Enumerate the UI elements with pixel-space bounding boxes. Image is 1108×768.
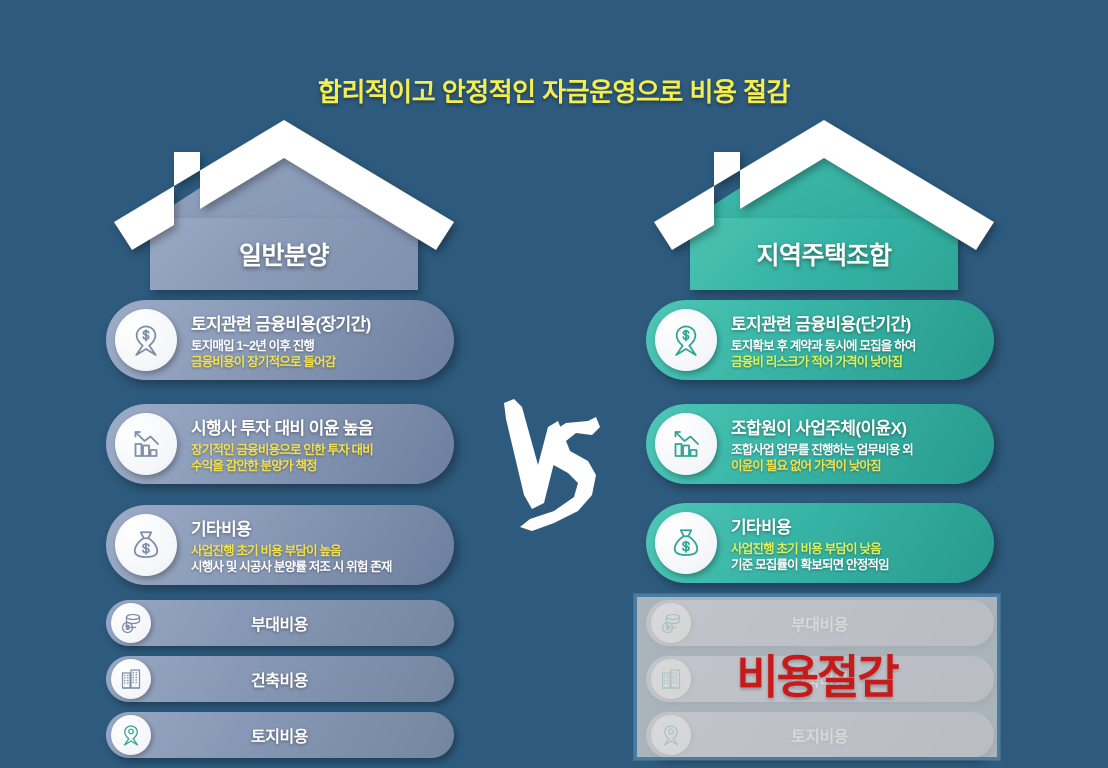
card-subline: 이윤이 필요 없어 가격이 낮아짐 (731, 458, 913, 475)
location-pin-icon (111, 715, 151, 755)
card-right-0-text: 토지관련 금융비용(단기간) 토지확보 후 계약과 동시에 모집을 하여 금융비… (717, 310, 928, 371)
card-left-1[interactable]: 시행사 투자 대비 이윤 높음 장기적인 금융비용으로 인한 투자 대비 수익을… (106, 404, 454, 484)
card-subline: 금융비 리스크가 적어 가격이 낮아짐 (731, 354, 916, 371)
infographic-canvas: 합리적이고 안정적인 자금운영으로 비용 절감 일반분양 지역주택조합 토지관련… (0, 0, 1108, 768)
bar-left-2[interactable]: 토지비용 (106, 712, 454, 758)
house-right-label: 지역주택조합 (690, 218, 958, 290)
page-title: 합리적이고 안정적인 자금운영으로 비용 절감 (0, 72, 1108, 109)
bar-chart-trend-icon (655, 413, 717, 475)
vs-icon (492, 391, 612, 541)
versus-badge (482, 388, 622, 543)
bar-label: 부대비용 (151, 611, 454, 635)
location-pin-dollar-icon (655, 309, 717, 371)
card-heading: 기타비용 (731, 513, 889, 538)
card-heading: 시행사 투자 대비 이윤 높음 (191, 414, 373, 439)
card-heading: 조합원이 사업주체(이윤X) (731, 414, 913, 439)
coins-stack-icon (111, 603, 151, 643)
card-right-2[interactable]: 기타비용 사업진행 초기 비용 부담이 낮음 기준 모집률이 확보되면 안정적임 (646, 503, 994, 583)
card-subline: 토지매입 1~2년 이후 진행 (191, 338, 371, 355)
card-right-2-text: 기타비용 사업진행 초기 비용 부담이 낮음 기준 모집률이 확보되면 안정적임 (717, 513, 901, 574)
card-subline: 사업진행 초기 비용 부담이 낮음 (731, 541, 889, 558)
card-subline: 기준 모집률이 확보되면 안정적임 (731, 557, 889, 574)
bar-left-0[interactable]: 부대비용 (106, 600, 454, 646)
card-subline: 사업진행 초기 비용 부담이 높음 (191, 543, 392, 560)
card-right-1[interactable]: 조합원이 사업주체(이윤X) 조합사업 업무를 진행하는 업무비용 외 이윤이 … (646, 404, 994, 484)
money-bag-icon (115, 514, 177, 576)
bar-label: 토지비용 (151, 723, 454, 747)
card-subline: 금융비용이 장기적으로 들어감 (191, 354, 371, 371)
card-heading: 기타비용 (191, 515, 392, 540)
card-heading: 토지관련 금융비용(장기간) (191, 310, 371, 335)
house-left-label: 일반분양 (150, 218, 418, 290)
savings-label: 비용절감 (634, 641, 1000, 707)
card-subline: 시행사 및 시공사 분양률 저조 시 위험 존재 (191, 559, 392, 576)
card-left-0[interactable]: 토지관련 금융비용(장기간) 토지매입 1~2년 이후 진행 금융비용이 장기적… (106, 300, 454, 380)
buildings-icon (111, 659, 151, 699)
bar-chart-trend-icon (115, 413, 177, 475)
house-right: 지역주택조합 (644, 110, 1004, 290)
card-left-2[interactable]: 기타비용 사업진행 초기 비용 부담이 높음 시행사 및 시공사 분양률 저조 … (106, 505, 454, 585)
money-bag-icon (655, 512, 717, 574)
bar-left-1[interactable]: 건축비용 (106, 656, 454, 702)
card-left-2-text: 기타비용 사업진행 초기 비용 부담이 높음 시행사 및 시공사 분양률 저조 … (177, 515, 404, 576)
card-left-1-text: 시행사 투자 대비 이윤 높음 장기적인 금융비용으로 인한 투자 대비 수익을… (177, 414, 385, 475)
card-left-0-text: 토지관련 금융비용(장기간) 토지매입 1~2년 이후 진행 금융비용이 장기적… (177, 310, 383, 371)
card-subline: 조합사업 업무를 진행하는 업무비용 외 (731, 442, 913, 459)
card-subline: 토지확보 후 계약과 동시에 모집을 하여 (731, 338, 916, 355)
location-pin-dollar-icon (115, 309, 177, 371)
bar-label: 건축비용 (151, 667, 454, 691)
card-heading: 토지관련 금융비용(단기간) (731, 310, 916, 335)
card-right-1-text: 조합원이 사업주체(이윤X) 조합사업 업무를 진행하는 업무비용 외 이윤이 … (717, 414, 925, 475)
card-subline: 수익을 감안한 분양가 책정 (191, 458, 373, 475)
card-right-0[interactable]: 토지관련 금융비용(단기간) 토지확보 후 계약과 동시에 모집을 하여 금융비… (646, 300, 994, 380)
card-subline: 장기적인 금융비용으로 인한 투자 대비 (191, 442, 373, 459)
house-left: 일반분양 (104, 110, 464, 290)
